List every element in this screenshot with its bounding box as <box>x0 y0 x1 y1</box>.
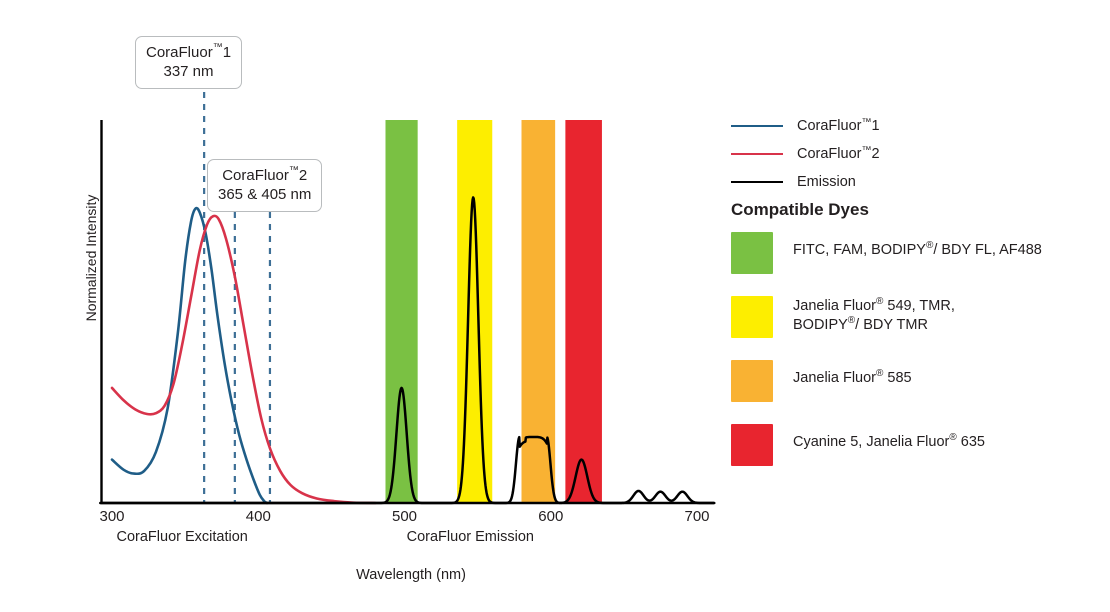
curve-excitation-corafluor1 <box>112 208 267 503</box>
trademark-symbol: ™ <box>289 165 299 176</box>
x-tick-label-700: 700 <box>684 508 709 525</box>
legend-item-2: Emission <box>731 168 1091 196</box>
registered-symbol: ® <box>876 296 883 307</box>
figure-root: CoraFluor™1 337 nm CoraFluor™2 365 & 405… <box>0 0 1110 612</box>
registered-symbol: ® <box>949 432 956 443</box>
legend-line-swatch <box>731 153 783 155</box>
dye-label-line1: Cyanine 5, Janelia Fluor® 635 <box>793 433 985 452</box>
dye-item-label: FITC, FAM, BODIPY®/ BDY FL, AF488 <box>793 232 1042 260</box>
legend-line-swatch <box>731 181 783 183</box>
x-tick-label-300: 300 <box>99 508 124 525</box>
callout-corafluor1-line2: 337 nm <box>146 62 231 81</box>
compatible-dyes-list: FITC, FAM, BODIPY®/ BDY FL, AF488Janelia… <box>731 232 1101 488</box>
callout-corafluor1-line1: CoraFluor™1 <box>146 43 231 62</box>
emission-band-yellow <box>457 120 492 503</box>
dye-item-0: FITC, FAM, BODIPY®/ BDY FL, AF488 <box>731 232 1101 274</box>
dye-item-label: Janelia Fluor® 585 <box>793 360 912 388</box>
dye-item-3: Cyanine 5, Janelia Fluor® 635 <box>731 424 1101 466</box>
x-tick-label-500: 500 <box>392 508 417 525</box>
x-axis-title: Wavelength (nm) <box>356 567 466 583</box>
dye-label-line1: Janelia Fluor® 585 <box>793 369 912 388</box>
emission-band-green <box>385 120 417 503</box>
registered-symbol: ® <box>876 368 883 379</box>
legend-item-label: CoraFluor™2 <box>797 146 880 162</box>
registered-symbol: ® <box>848 315 855 326</box>
dye-color-swatch <box>731 360 773 402</box>
series-legend: CoraFluor™1CoraFluor™2Emission <box>731 112 1091 196</box>
x-axis-sublabel-excitation: CoraFluor Excitation <box>117 529 248 545</box>
emission-band-orange <box>522 120 556 503</box>
dye-item-label: Cyanine 5, Janelia Fluor® 635 <box>793 424 985 452</box>
callout-corafluor2: CoraFluor™2 365 & 405 nm <box>207 159 322 212</box>
dye-color-swatch <box>731 424 773 466</box>
trademark-symbol: ™ <box>213 42 223 53</box>
legend-item-0: CoraFluor™1 <box>731 112 1091 140</box>
registered-symbol: ® <box>926 240 933 251</box>
dye-item-2: Janelia Fluor® 585 <box>731 360 1101 402</box>
legend-item-1: CoraFluor™2 <box>731 140 1091 168</box>
legend-item-label: Emission <box>797 174 856 190</box>
trademark-symbol: ™ <box>861 145 871 156</box>
trademark-symbol: ™ <box>861 117 871 128</box>
x-tick-label-600: 600 <box>538 508 563 525</box>
callout-corafluor2-line1: CoraFluor™2 <box>218 166 311 185</box>
legend-item-label: CoraFluor™1 <box>797 118 880 134</box>
dye-label-line1: FITC, FAM, BODIPY®/ BDY FL, AF488 <box>793 241 1042 260</box>
dye-item-label: Janelia Fluor® 549, TMR,BODIPY®/ BDY TMR <box>793 296 955 335</box>
dye-item-1: Janelia Fluor® 549, TMR,BODIPY®/ BDY TMR <box>731 296 1101 338</box>
dye-color-swatch <box>731 296 773 338</box>
callout-corafluor1: CoraFluor™1 337 nm <box>135 36 242 89</box>
y-axis-title: Normalized Intensity <box>83 163 99 353</box>
legend-line-swatch <box>731 125 783 127</box>
callout-corafluor2-line2: 365 & 405 nm <box>218 185 311 204</box>
dye-label-line1: Janelia Fluor® 549, TMR, <box>793 297 955 316</box>
dye-color-swatch <box>731 232 773 274</box>
x-tick-label-400: 400 <box>246 508 271 525</box>
compatible-dyes-title: Compatible Dyes <box>731 200 869 220</box>
emission-band-red <box>565 120 602 503</box>
dye-label-line2: BODIPY®/ BDY TMR <box>793 316 955 335</box>
x-axis-sublabel-emission: CoraFluor Emission <box>407 529 534 545</box>
